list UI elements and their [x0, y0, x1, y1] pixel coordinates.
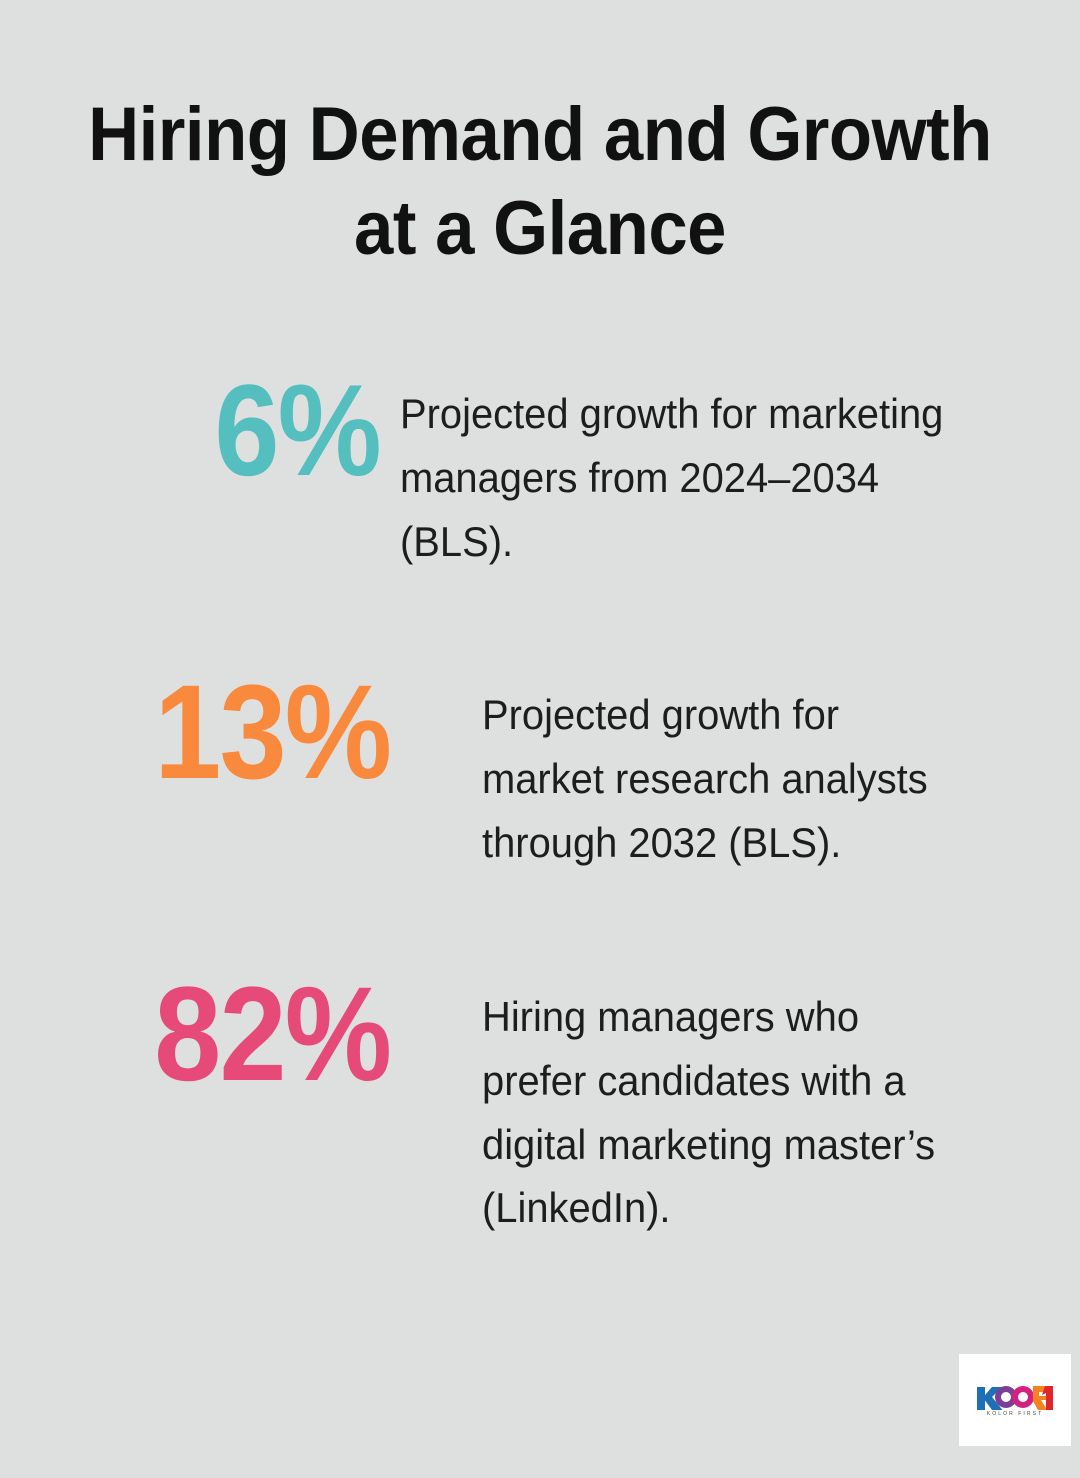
- page-title: Hiring Demand and Growth at a Glance: [75, 88, 1005, 276]
- stats-list: 6% Projected growth for marketing manage…: [0, 368, 1080, 1240]
- stat-value-cell: 13%: [0, 669, 410, 798]
- stat-value-cell: 6%: [0, 368, 400, 493]
- stat-description-cell: Projected growth for marketing managers …: [400, 368, 1080, 573]
- stat-description: Projected growth for market research ana…: [482, 683, 963, 874]
- stat-row: 13% Projected growth for market research…: [0, 669, 1080, 874]
- stat-value: 13%: [154, 669, 390, 798]
- stat-row: 6% Projected growth for marketing manage…: [0, 368, 1080, 573]
- stat-description-cell: Hiring managers who prefer candidates wi…: [410, 971, 1080, 1240]
- page-title-wrap: Hiring Demand and Growth at a Glance: [40, 88, 1040, 276]
- stat-value: 82%: [154, 971, 390, 1100]
- stat-row: 82% Hiring managers who prefer candidate…: [0, 971, 1080, 1240]
- stat-description: Hiring managers who prefer candidates wi…: [482, 985, 963, 1240]
- stat-description: Projected growth for marketing managers …: [400, 382, 972, 573]
- infographic-poster: Hiring Demand and Growth at a Glance 6% …: [0, 0, 1080, 1478]
- kolor-first-logo-icon: [975, 1384, 1055, 1410]
- stat-description-cell: Projected growth for market research ana…: [410, 669, 1080, 874]
- logo-tagline: KOLOR FIRST: [987, 1412, 1043, 1417]
- brand-logo-card: KOLOR FIRST: [959, 1354, 1071, 1446]
- stat-value-cell: 82%: [0, 971, 410, 1100]
- stat-value: 6%: [214, 368, 380, 493]
